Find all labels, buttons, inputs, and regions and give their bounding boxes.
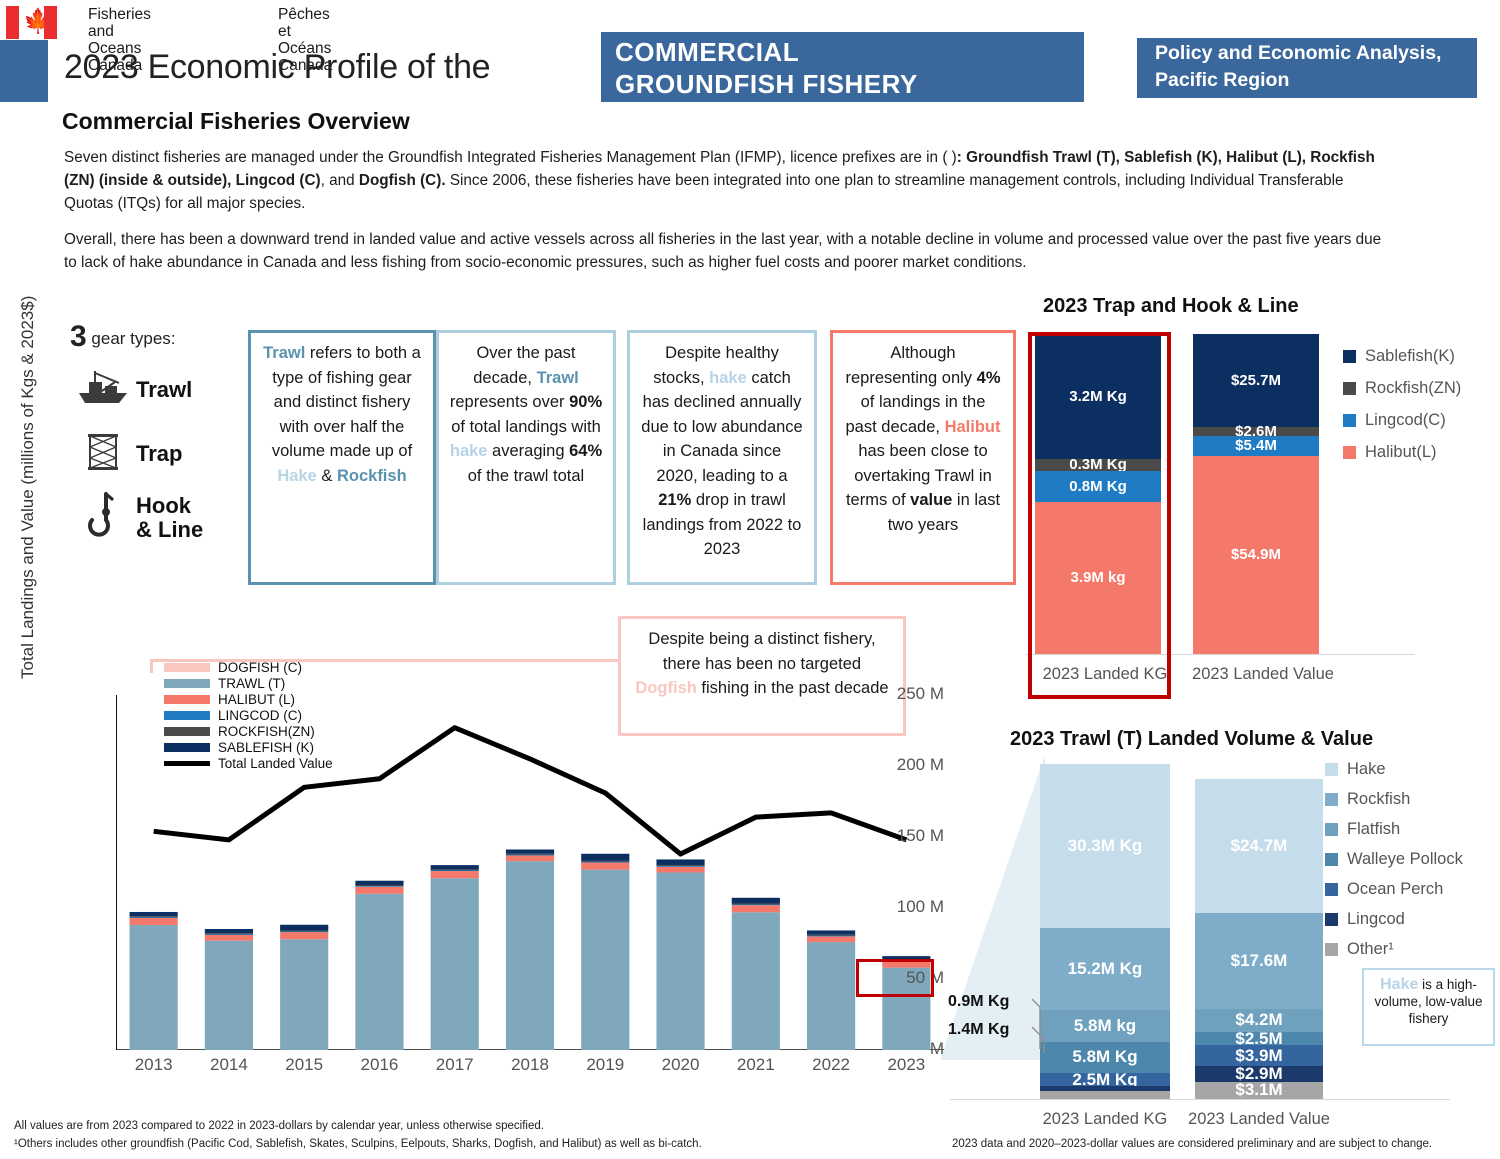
- trap-legend-item-0[interactable]: Sablefish(K): [1343, 347, 1461, 366]
- gear-label-hook-line: Hook & Line: [136, 494, 203, 542]
- legend-label: Lingcod(C): [1365, 411, 1446, 430]
- xlabel-2013: 2013: [114, 1055, 194, 1075]
- main-bar-2014-sablefish-k[interactable]: [205, 929, 253, 933]
- segment-value-label: $2.6M: [1235, 427, 1277, 436]
- xlabel-2018: 2018: [490, 1055, 570, 1075]
- title-banner: COMMERCIAL GROUNDFISH FISHERY: [601, 32, 1084, 102]
- fish-trap-icon: [70, 431, 136, 478]
- trawl-legend-item-5[interactable]: Lingcod: [1325, 910, 1463, 929]
- blue-accent-square: [0, 40, 48, 102]
- main-bar-2014-halibut-l[interactable]: [205, 935, 253, 941]
- main-bar-2017-rockfish-zn[interactable]: [431, 869, 479, 870]
- callout-trawl-share: Over the past decade, Trawl represents o…: [436, 330, 616, 585]
- segment-value-label: $17.6M: [1231, 951, 1288, 971]
- trawl-outside-label-other: 1.4M Kg: [948, 1021, 1009, 1039]
- callout-hake-decline: Despite healthy stocks, hake catch has d…: [627, 330, 817, 585]
- ytick-label-3: 150 M: [860, 826, 944, 846]
- legend-swatch-icon: [1325, 943, 1338, 956]
- trawl-legend-item-2[interactable]: Flatfish: [1325, 820, 1463, 839]
- main-bar-2016-trawl-t[interactable]: [355, 894, 403, 1050]
- legend-swatch-icon: [1343, 382, 1356, 395]
- trap-legend-item-3[interactable]: Halibut(L): [1343, 443, 1461, 462]
- trawl-legend-item-1[interactable]: Rockfish: [1325, 790, 1463, 809]
- trap-kg-highlight-box: [1028, 332, 1171, 699]
- trawl-kg-segment-rockfish[interactable]: 15.2M Kg: [1040, 928, 1170, 1010]
- xlabel-2016: 2016: [339, 1055, 419, 1075]
- legend-swatch-icon: [1325, 913, 1338, 926]
- main-bar-2015-rockfish-zn[interactable]: [280, 930, 328, 931]
- main-bar-2019-sablefish-k[interactable]: [581, 854, 629, 861]
- trawl-legend-item-0[interactable]: Hake: [1325, 760, 1463, 779]
- segment-value-label: 5.8M kg: [1074, 1016, 1136, 1036]
- main-legend-item-1[interactable]: TRAWL (T): [164, 675, 333, 691]
- page-title: 2023 Economic Profile of the: [64, 48, 490, 87]
- ytick-label-2: 100 M: [860, 897, 944, 917]
- segment-value-label: $5.4M: [1235, 437, 1277, 454]
- main-bar-2020-rockfish-zn[interactable]: [656, 865, 704, 866]
- trawler-boat-icon: [70, 369, 136, 412]
- trap-legend-item-2[interactable]: Lingcod(C): [1343, 411, 1461, 430]
- main-bar-2018-sablefish-k[interactable]: [506, 849, 554, 853]
- legend-swatch-icon: [1325, 853, 1338, 866]
- gear-item-hook-line: Hook & Line: [70, 490, 240, 546]
- department-banner: Policy and Economic Analysis, Pacific Re…: [1137, 38, 1477, 98]
- gear-types-title: 3 gear types:: [70, 320, 240, 354]
- main-bar-2013-sablefish-k[interactable]: [130, 912, 178, 916]
- main-bar-2021-trawl-t[interactable]: [732, 912, 780, 1050]
- legend-label: Ocean Perch: [1347, 880, 1443, 899]
- main-legend-item-0[interactable]: DOGFISH (C): [164, 659, 333, 675]
- legend-label: Halibut(L): [1365, 443, 1437, 462]
- segment-value-label: $2.5M: [1235, 1032, 1282, 1046]
- main-bar-2014-rockfish-zn[interactable]: [205, 933, 253, 934]
- main-bar-2019-trawl-t[interactable]: [581, 870, 629, 1050]
- main-bar-2019-rockfish-zn[interactable]: [581, 861, 629, 862]
- trawl-bar-landed-kg[interactable]: 30.3M Kg15.2M Kg5.8M kg5.8M Kg2.5M Kg: [1040, 764, 1170, 1099]
- trawl-kg-segment-hake[interactable]: 30.3M Kg: [1040, 764, 1170, 928]
- year-2023-highlight-box: [856, 959, 934, 997]
- gear-label-trap: Trap: [136, 442, 182, 466]
- overview-paragraph-2: Overall, there has been a downward trend…: [64, 228, 1394, 274]
- main-bar-2014-trawl-t[interactable]: [205, 941, 253, 1050]
- gear-count: 3: [70, 320, 87, 353]
- trap-value-segment-lingcod-c[interactable]: $5.4M: [1193, 436, 1319, 456]
- main-landings-chart: Total Landings and Value (millions of Kg…: [24, 655, 944, 1095]
- canada-flag-icon: 🍁: [0, 0, 62, 45]
- gear-label-trawl: Trawl: [136, 378, 192, 402]
- trap-xlabel-value: 2023 Landed Value: [1183, 665, 1343, 684]
- legend-swatch-icon: [164, 679, 210, 688]
- segment-value-label: $54.9M: [1231, 546, 1281, 563]
- trawl-value-segment-ocean-perch[interactable]: $3.9M: [1195, 1045, 1323, 1066]
- ytick-label-5: 250 M: [860, 684, 944, 704]
- legend-label: DOGFISH (C): [218, 660, 302, 675]
- trawl-value-segment-walleye-pollock[interactable]: $2.5M: [1195, 1032, 1323, 1046]
- trawl-value-segment-rockfish[interactable]: $17.6M: [1195, 913, 1323, 1009]
- main-bar-2020-sablefish-k[interactable]: [656, 859, 704, 865]
- main-bar-2021-sablefish-k[interactable]: [732, 898, 780, 904]
- legend-swatch-icon: [1325, 823, 1338, 836]
- main-bar-2020-trawl-t[interactable]: [656, 873, 704, 1051]
- legend-swatch-icon: [1325, 793, 1338, 806]
- main-bar-2017-halibut-l[interactable]: [431, 871, 479, 878]
- segment-value-label: $25.7M: [1231, 372, 1281, 389]
- main-bar-2013-halibut-l[interactable]: [130, 918, 178, 925]
- segment-value-label: 2.5M Kg: [1072, 1073, 1137, 1087]
- main-bar-2022-trawl-t[interactable]: [807, 942, 855, 1050]
- trawl-chart-legend: HakeRockfishFlatfishWalleye PollockOcean…: [1325, 760, 1463, 970]
- trap-bar-landed-value[interactable]: $25.7M$2.6M$5.4M$54.9M: [1193, 334, 1319, 654]
- trawl-chart-title: 2023 Trawl (T) Landed Volume & Value: [1010, 728, 1373, 751]
- segment-value-label: $24.7M: [1231, 836, 1288, 856]
- xlabel-2022: 2022: [791, 1055, 871, 1075]
- trap-value-segment-sablefish-k[interactable]: $25.7M: [1193, 334, 1319, 427]
- footnote-values: All values are from 2023 compared to 202…: [14, 1120, 544, 1132]
- gear-item-trap: Trap: [70, 426, 240, 482]
- trawl-leader-lines: [1032, 987, 1054, 1057]
- main-bar-2017-sablefish-k[interactable]: [431, 865, 479, 869]
- ytick-label-4: 200 M: [860, 755, 944, 775]
- page-header: 🍁 Fisheries and Oceans Canada Pêches et …: [0, 0, 1500, 108]
- trawl-legend-item-4[interactable]: Ocean Perch: [1325, 880, 1463, 899]
- trap-value-segment-halibut-l[interactable]: $54.9M: [1193, 456, 1319, 654]
- main-chart-total-landed-value-line: [154, 728, 907, 854]
- trap-hook-chart-title: 2023 Trap and Hook & Line: [1043, 295, 1299, 318]
- main-bar-2018-halibut-l[interactable]: [506, 855, 554, 861]
- legend-label: TRAWL (T): [218, 676, 285, 691]
- main-bar-2013-rockfish-zn[interactable]: [130, 916, 178, 917]
- main-bar-2015-trawl-t[interactable]: [280, 939, 328, 1050]
- main-chart-plot: [116, 695, 944, 1050]
- segment-value-label: 5.8M Kg: [1072, 1047, 1137, 1067]
- gear-item-trawl: Trawl: [70, 362, 240, 418]
- segment-value-label: $3.9M: [1235, 1046, 1282, 1066]
- main-bar-2021-rockfish-zn[interactable]: [732, 903, 780, 904]
- callout-trawl-definition: Trawl refers to both a type of fishing g…: [248, 330, 436, 585]
- main-bar-2016-halibut-l[interactable]: [355, 887, 403, 894]
- gear-title-text: gear types:: [87, 329, 176, 348]
- trawl-kg-segment-flatfish[interactable]: 5.8M kg: [1040, 1010, 1170, 1041]
- xlabel-2014: 2014: [189, 1055, 269, 1075]
- trawl-kg-segment-other[interactable]: [1040, 1091, 1170, 1099]
- main-bar-2022-sablefish-k[interactable]: [807, 930, 855, 934]
- gear-types-panel: 3 gear types: Trawl Trap: [70, 320, 240, 546]
- overview-paragraph-1: Seven distinct fisheries are managed und…: [64, 146, 1394, 215]
- trawl-xlabel-value: 2023 Landed Value: [1179, 1110, 1339, 1129]
- main-bar-2019-halibut-l[interactable]: [581, 863, 629, 870]
- callout-halibut-value: Although representing only 4% of landing…: [830, 330, 1016, 585]
- main-bar-2018-trawl-t[interactable]: [506, 861, 554, 1050]
- trawl-outside-label-lingcod: 0.9M Kg: [948, 993, 1009, 1011]
- xlabel-2021: 2021: [716, 1055, 796, 1075]
- trap-value-segment-rockfish-zn[interactable]: $2.6M: [1193, 427, 1319, 436]
- trawl-legend-item-6[interactable]: Other¹: [1325, 940, 1463, 959]
- trawl-value-segment-other[interactable]: $3.1M: [1195, 1082, 1323, 1099]
- main-bar-2017-trawl-t[interactable]: [431, 878, 479, 1050]
- xlabel-2019: 2019: [565, 1055, 645, 1075]
- overview-heading: Commercial Fisheries Overview: [62, 108, 410, 135]
- main-bar-2016-sablefish-k[interactable]: [355, 881, 403, 885]
- legend-label: Other¹: [1347, 940, 1394, 959]
- main-bar-2020-halibut-l[interactable]: [656, 867, 704, 873]
- legend-swatch-icon: [164, 663, 210, 672]
- legend-label: Sablefish(K): [1365, 347, 1455, 366]
- main-bar-2018-rockfish-zn[interactable]: [506, 854, 554, 855]
- main-bar-2013-trawl-t[interactable]: [130, 925, 178, 1050]
- xlabel-2023: 2023: [866, 1055, 946, 1075]
- legend-label: Lingcod: [1347, 910, 1405, 929]
- main-bar-2022-halibut-l[interactable]: [807, 936, 855, 942]
- main-bar-2021-halibut-l[interactable]: [732, 905, 780, 912]
- footnote-preliminary: 2023 data and 2020–2023-dollar values ar…: [952, 1138, 1432, 1150]
- trawl-bar-landed-value[interactable]: $24.7M$17.6M$4.2M$2.5M$3.9M$2.9M$3.1M: [1195, 779, 1323, 1099]
- segment-value-label: 30.3M Kg: [1068, 836, 1143, 856]
- trawl-legend-item-3[interactable]: Walleye Pollock: [1325, 850, 1463, 869]
- legend-swatch-icon: [1325, 883, 1338, 896]
- legend-label: Hake: [1347, 760, 1386, 779]
- legend-label: Rockfish: [1347, 790, 1410, 809]
- legend-label: Flatfish: [1347, 820, 1400, 839]
- trawl-value-segment-hake[interactable]: $24.7M: [1195, 779, 1323, 913]
- main-bar-2016-rockfish-zn[interactable]: [355, 885, 403, 886]
- legend-label: Walleye Pollock: [1347, 850, 1463, 869]
- segment-value-label: $4.2M: [1235, 1010, 1282, 1030]
- segment-value-label: 15.2M Kg: [1068, 959, 1143, 979]
- xlabel-2020: 2020: [641, 1055, 721, 1075]
- trap-chart-legend: Sablefish(K)Rockfish(ZN)Lingcod(C)Halibu…: [1343, 347, 1461, 475]
- main-chart-ylabel: Total Landings and Value (millions of Kg…: [18, 339, 38, 679]
- trawl-kg-segment-walleye-pollock[interactable]: 5.8M Kg: [1040, 1042, 1170, 1073]
- main-bar-2015-halibut-l[interactable]: [280, 932, 328, 939]
- legend-swatch-icon: [1343, 446, 1356, 459]
- legend-swatch-icon: [1343, 414, 1356, 427]
- trap-legend-item-1[interactable]: Rockfish(ZN): [1343, 379, 1461, 398]
- main-bar-2022-rockfish-zn[interactable]: [807, 935, 855, 936]
- segment-value-label: $3.1M: [1235, 1082, 1282, 1099]
- legend-label: Rockfish(ZN): [1365, 379, 1461, 398]
- trawl-chart-axis: [950, 1099, 1450, 1100]
- main-bar-2015-sablefish-k[interactable]: [280, 925, 328, 931]
- xlabel-2017: 2017: [415, 1055, 495, 1075]
- legend-swatch-icon: [1325, 763, 1338, 776]
- legend-swatch-icon: [1343, 350, 1356, 363]
- trawl-kg-segment-ocean-perch[interactable]: 2.5M Kg: [1040, 1073, 1170, 1087]
- fish-hook-icon: [70, 490, 136, 547]
- trawl-xlabel-kg: 2023 Landed KG: [1025, 1110, 1185, 1129]
- footnote-others: ¹Others includes other groundfish (Pacif…: [14, 1138, 702, 1150]
- xlabel-2015: 2015: [264, 1055, 344, 1075]
